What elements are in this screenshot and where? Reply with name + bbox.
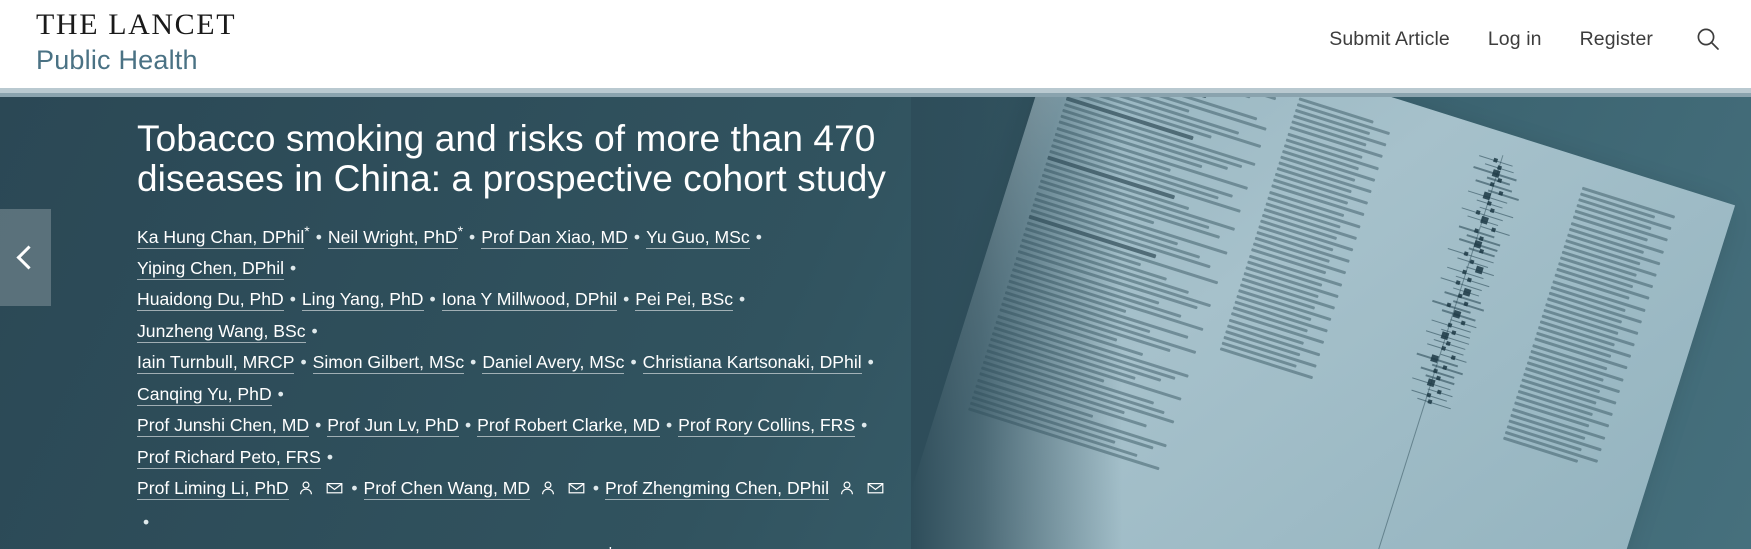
author-separator: • [465, 410, 471, 441]
author-link[interactable]: Prof Junshi Chen, MD [137, 415, 309, 437]
author-marker: * [304, 223, 309, 239]
author-separator: • [327, 442, 333, 473]
author-link[interactable]: Neil Wright, PhD [328, 227, 458, 249]
author-row: Huaidong Du, PhD•Ling Yang, PhD•Iona Y M… [137, 284, 900, 347]
author-separator: • [470, 347, 476, 378]
author-marker: * [458, 223, 463, 239]
author-separator: • [634, 222, 640, 253]
author-link[interactable]: Prof Jun Lv, PhD [327, 415, 459, 437]
author-list: Ka Hung Chan, DPhil*•Neil Wright, PhD*•P… [137, 219, 900, 549]
author-link[interactable]: Ling Yang, PhD [302, 289, 424, 311]
author-link[interactable]: Pei Pei, BSc [635, 289, 733, 311]
search-icon [1695, 26, 1721, 52]
envelope-icon[interactable] [568, 475, 585, 506]
search-button[interactable] [1695, 26, 1721, 52]
author-link[interactable]: Prof Zhengming Chen, DPhil [605, 478, 829, 500]
logo-public-health: Public Health [36, 47, 236, 74]
author-link[interactable]: Daniel Avery, MSc [482, 352, 624, 374]
author-separator: • [290, 253, 296, 284]
author-separator: • [351, 473, 357, 504]
author-separator: • [312, 316, 318, 347]
article-page: THE LANCET Public Health Submit Article … [0, 0, 1751, 549]
collaborative-group-line: on behalf of the China Kadoorie Biobank … [137, 540, 900, 549]
author-link[interactable]: Christiana Kartsonaki, DPhil [643, 352, 862, 374]
group-marker: † [607, 544, 615, 549]
author-separator: • [666, 410, 672, 441]
author-row: Prof Junshi Chen, MD•Prof Jun Lv, PhD•Pr… [137, 410, 900, 473]
author-separator: • [620, 543, 626, 549]
person-icon[interactable] [839, 475, 855, 506]
author-link[interactable]: Prof Richard Peto, FRS [137, 447, 321, 469]
author-separator: • [756, 222, 762, 253]
author-link[interactable]: Yiping Chen, DPhil [137, 258, 284, 280]
author-link[interactable]: Prof Liming Li, PhD [137, 478, 289, 500]
author-separator: • [861, 410, 867, 441]
person-icon[interactable] [540, 475, 556, 506]
author-separator: • [315, 410, 321, 441]
nav-log-in[interactable]: Log in [1488, 28, 1542, 51]
author-link[interactable]: Iona Y Millwood, DPhil [442, 289, 617, 311]
author-separator: • [868, 347, 874, 378]
author-link[interactable]: Ka Hung Chan, DPhil [137, 227, 304, 249]
author-separator: • [719, 543, 725, 549]
author-separator: • [623, 284, 629, 315]
author-link[interactable]: Yu Guo, MSc [646, 227, 750, 249]
author-separator: • [300, 347, 306, 378]
author-separator: • [630, 347, 636, 378]
primary-nav: Submit Article Log in Register [1329, 26, 1721, 52]
author-link[interactable]: Huaidong Du, PhD [137, 289, 284, 311]
page-title: Tobacco smoking and risks of more than 4… [137, 119, 900, 200]
article-hero: Tobacco smoking and risks of more than 4… [0, 97, 1751, 549]
author-link[interactable]: Simon Gilbert, MSc [313, 352, 465, 374]
author-separator: • [278, 379, 284, 410]
hero-artwork [911, 97, 1751, 549]
author-separator: • [430, 284, 436, 315]
author-row: Iain Turnbull, MRCP•Simon Gilbert, MSc•D… [137, 347, 900, 410]
author-link[interactable]: Prof Rory Collins, FRS [678, 415, 855, 437]
author-link[interactable]: Iain Turnbull, MRCP [137, 352, 294, 374]
author-separator: • [593, 473, 599, 504]
author-link[interactable]: Prof Dan Xiao, MD [481, 227, 628, 249]
author-separator: • [739, 284, 745, 315]
envelope-icon[interactable] [326, 475, 343, 506]
article-header-content: Tobacco smoking and risks of more than 4… [0, 97, 900, 549]
person-icon[interactable] [298, 475, 314, 506]
author-link[interactable]: Prof Robert Clarke, MD [477, 415, 660, 437]
nav-register[interactable]: Register [1580, 28, 1653, 51]
author-separator: • [143, 507, 149, 538]
author-link[interactable]: Prof Chen Wang, MD [364, 478, 531, 500]
envelope-icon[interactable] [867, 475, 884, 506]
logo-the-lancet: THE LANCET [36, 10, 236, 40]
site-header: THE LANCET Public Health Submit Article … [0, 0, 1751, 88]
corresponding-author-row: Prof Liming Li, PhD •Prof Chen Wang, MD … [137, 473, 900, 538]
tilted-paper-graphic [911, 97, 1735, 549]
author-link[interactable]: Junzheng Wang, BSc [137, 321, 306, 343]
author-separator: • [469, 222, 475, 253]
site-logo[interactable]: THE LANCET Public Health [36, 10, 236, 74]
author-row: Ka Hung Chan, DPhil*•Neil Wright, PhD*•P… [137, 219, 900, 285]
author-separator: • [316, 222, 322, 253]
nav-submit-article[interactable]: Submit Article [1329, 28, 1450, 51]
author-link[interactable]: Canqing Yu, PhD [137, 384, 272, 406]
author-separator: • [290, 284, 296, 315]
